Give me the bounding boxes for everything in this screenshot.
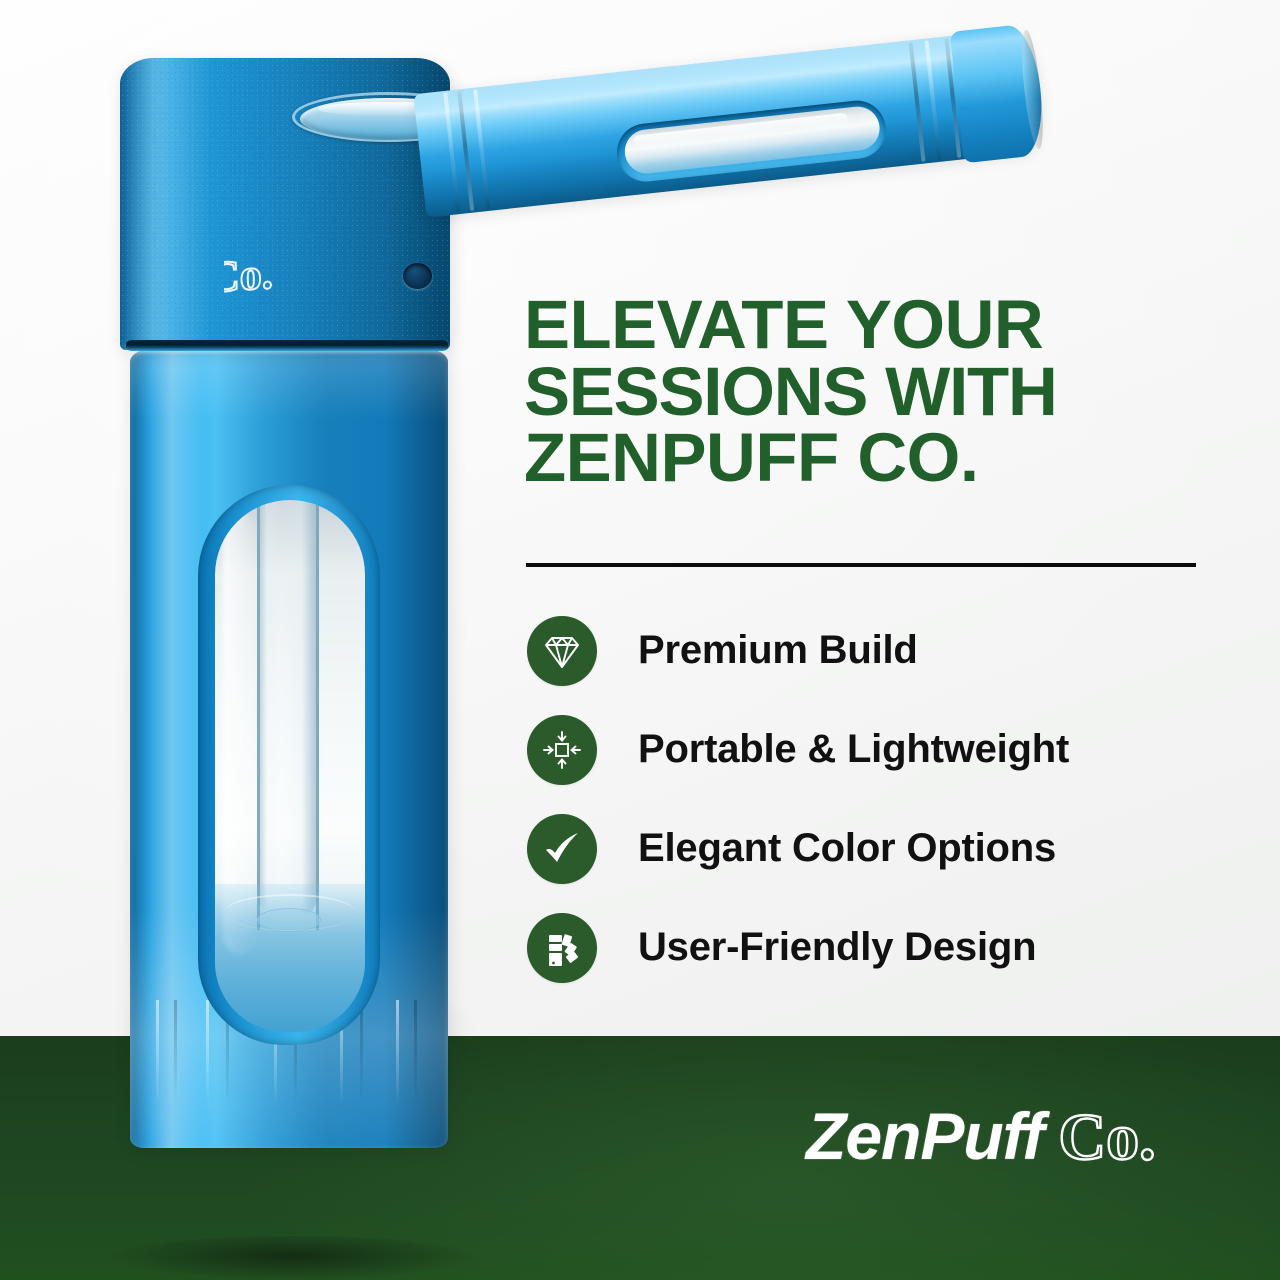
footer-logo-wordmark: ZenPuff xyxy=(806,1098,1043,1174)
diamond-icon xyxy=(540,629,584,673)
headline-line-2: SESSIONS WITH xyxy=(524,359,1214,426)
footer-logo-suffix: Co. xyxy=(1058,1100,1155,1176)
feature-icon-badge xyxy=(527,616,597,686)
feature-item-user-friendly-design: User-Friendly Design xyxy=(524,898,1224,997)
feature-item-elegant-color-options: Elegant Color Options xyxy=(524,799,1224,898)
feature-icon-badge xyxy=(527,913,597,983)
feature-label: User-Friendly Design xyxy=(638,925,1036,970)
headline-divider xyxy=(526,563,1196,567)
feature-label: Portable & Lightweight xyxy=(638,727,1069,772)
headline: ELEVATE YOUR SESSIONS WITH ZENPUFF CO. xyxy=(524,292,1214,492)
headline-line-3: ZENPUFF CO. xyxy=(524,425,1214,492)
checkmark-icon xyxy=(539,826,585,872)
feature-list: Premium Build Portable & xyxy=(524,601,1224,997)
feature-label: Premium Build xyxy=(638,628,918,673)
feature-item-portable-lightweight: Portable & Lightweight xyxy=(524,700,1224,799)
promo-graphic: Co. ELEVATE YOUR SESSIONS WITH ZENPUFF C… xyxy=(0,0,1280,1280)
footer-brand-logo: ZenPuff Co. xyxy=(806,1098,1156,1188)
feature-icon-badge xyxy=(527,715,597,785)
feature-item-premium-build: Premium Build xyxy=(524,601,1224,700)
color-swatch-icon xyxy=(540,926,584,970)
compress-icon xyxy=(540,728,584,772)
feature-label: Elegant Color Options xyxy=(638,826,1056,871)
headline-line-1: ELEVATE YOUR xyxy=(524,292,1214,359)
feature-icon-badge xyxy=(527,814,597,884)
